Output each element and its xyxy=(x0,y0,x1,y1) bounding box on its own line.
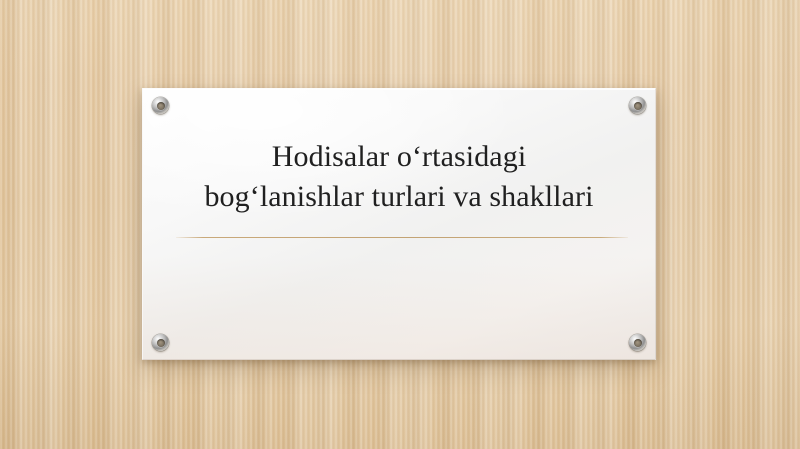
screw-icon-top-right xyxy=(629,97,646,114)
title-panel: Hodisalar oʻrtasidagi bogʻlanishlar turl… xyxy=(142,88,656,360)
title-underline-rule xyxy=(176,237,628,238)
panel-sheen-overlay xyxy=(143,89,655,359)
title-block: Hodisalar oʻrtasidagi bogʻlanishlar turl… xyxy=(143,137,655,217)
slide-title: Hodisalar oʻrtasidagi bogʻlanishlar turl… xyxy=(161,137,637,217)
screw-icon-bottom-left xyxy=(152,334,169,351)
screw-icon-bottom-right xyxy=(629,334,646,351)
presentation-slide: Hodisalar oʻrtasidagi bogʻlanishlar turl… xyxy=(0,0,800,449)
screw-icon-top-left xyxy=(152,97,169,114)
